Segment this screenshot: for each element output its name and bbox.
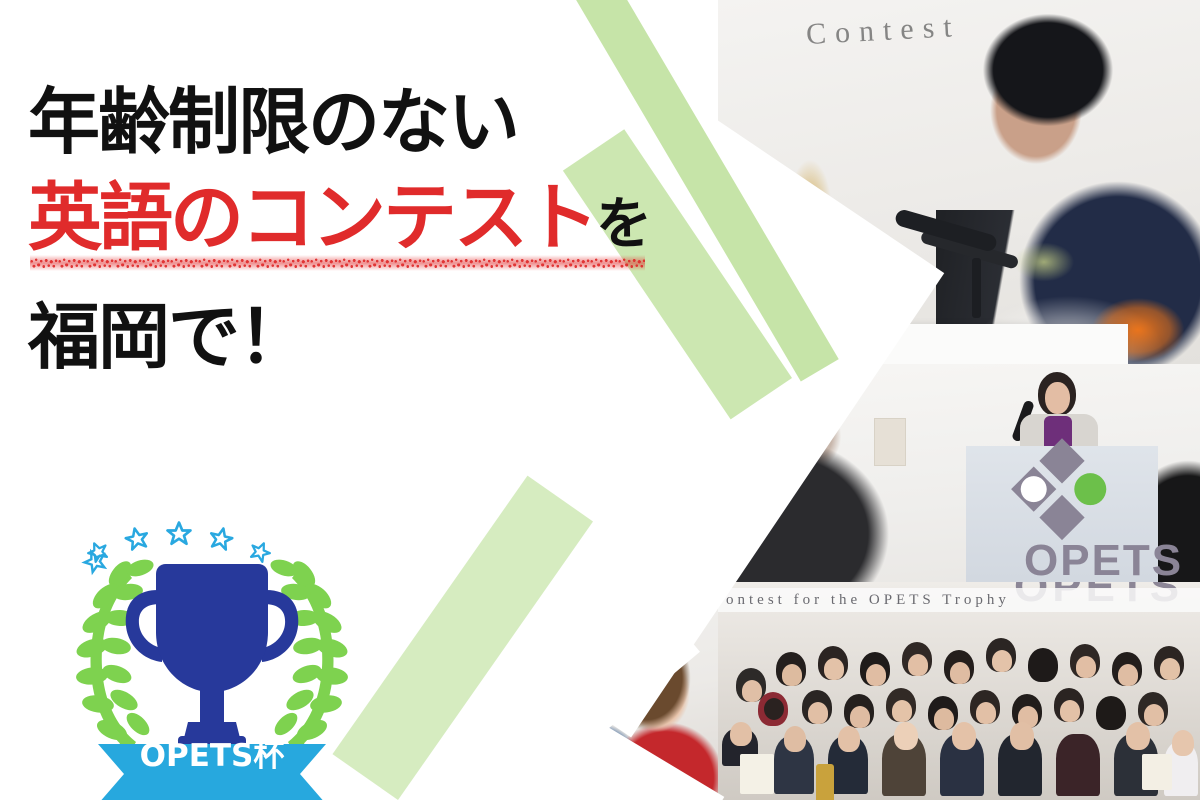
- opets-cup-promo-banner: Contest OPETS OPETS ontest for the OPETS…: [0, 0, 1200, 800]
- opets-diamond-logo-icon: [1008, 438, 1115, 545]
- laurel-wreath-right-icon: [268, 557, 349, 768]
- photo-group-commemorative: OPETS ontest for the OPETS Trophy: [718, 582, 1200, 800]
- podium-opets-banner: OPETS: [966, 446, 1158, 582]
- logo-graphic: [62, 512, 362, 800]
- headline-block: 年齢制限のない 英語のコンテストを 福岡で！: [28, 86, 649, 374]
- group-banner-text: ontest for the OPETS Trophy: [718, 588, 1200, 612]
- trophy-cup-icon: [126, 564, 299, 768]
- ribbon-banner-icon: [98, 744, 326, 800]
- headline-line-2: 英語のコンテストを: [28, 181, 649, 256]
- opets-cup-logo: OPETS杯: [62, 512, 362, 800]
- wall-plate: [874, 418, 906, 466]
- headline-line-2-wrapper: 英語のコンテストを: [28, 181, 649, 256]
- photo-male-speaker: Contest: [718, 0, 1200, 364]
- girl-face: [1045, 382, 1070, 414]
- headline-underline-brush: [30, 255, 645, 271]
- microphone-icon: [894, 208, 999, 253]
- opets-banner-text: OPETS: [1024, 536, 1183, 582]
- podium: [828, 324, 1128, 364]
- crowd: [718, 618, 1200, 800]
- headline-line-3: 福岡で！: [28, 301, 649, 374]
- headline-line-2-red: 英語のコンテスト: [28, 175, 596, 261]
- photo-girl-speaker: OPETS: [718, 364, 1200, 582]
- microphone-stand: [972, 258, 981, 318]
- headline-line-2-black: を: [596, 192, 649, 257]
- photo-audience: [400, 582, 718, 800]
- headline-line-1: 年齢制限のない: [28, 86, 649, 159]
- stars-row-icon: [86, 523, 273, 564]
- laurel-wreath-left-icon: [74, 557, 155, 768]
- wall-text-contest: Contest: [805, 10, 961, 52]
